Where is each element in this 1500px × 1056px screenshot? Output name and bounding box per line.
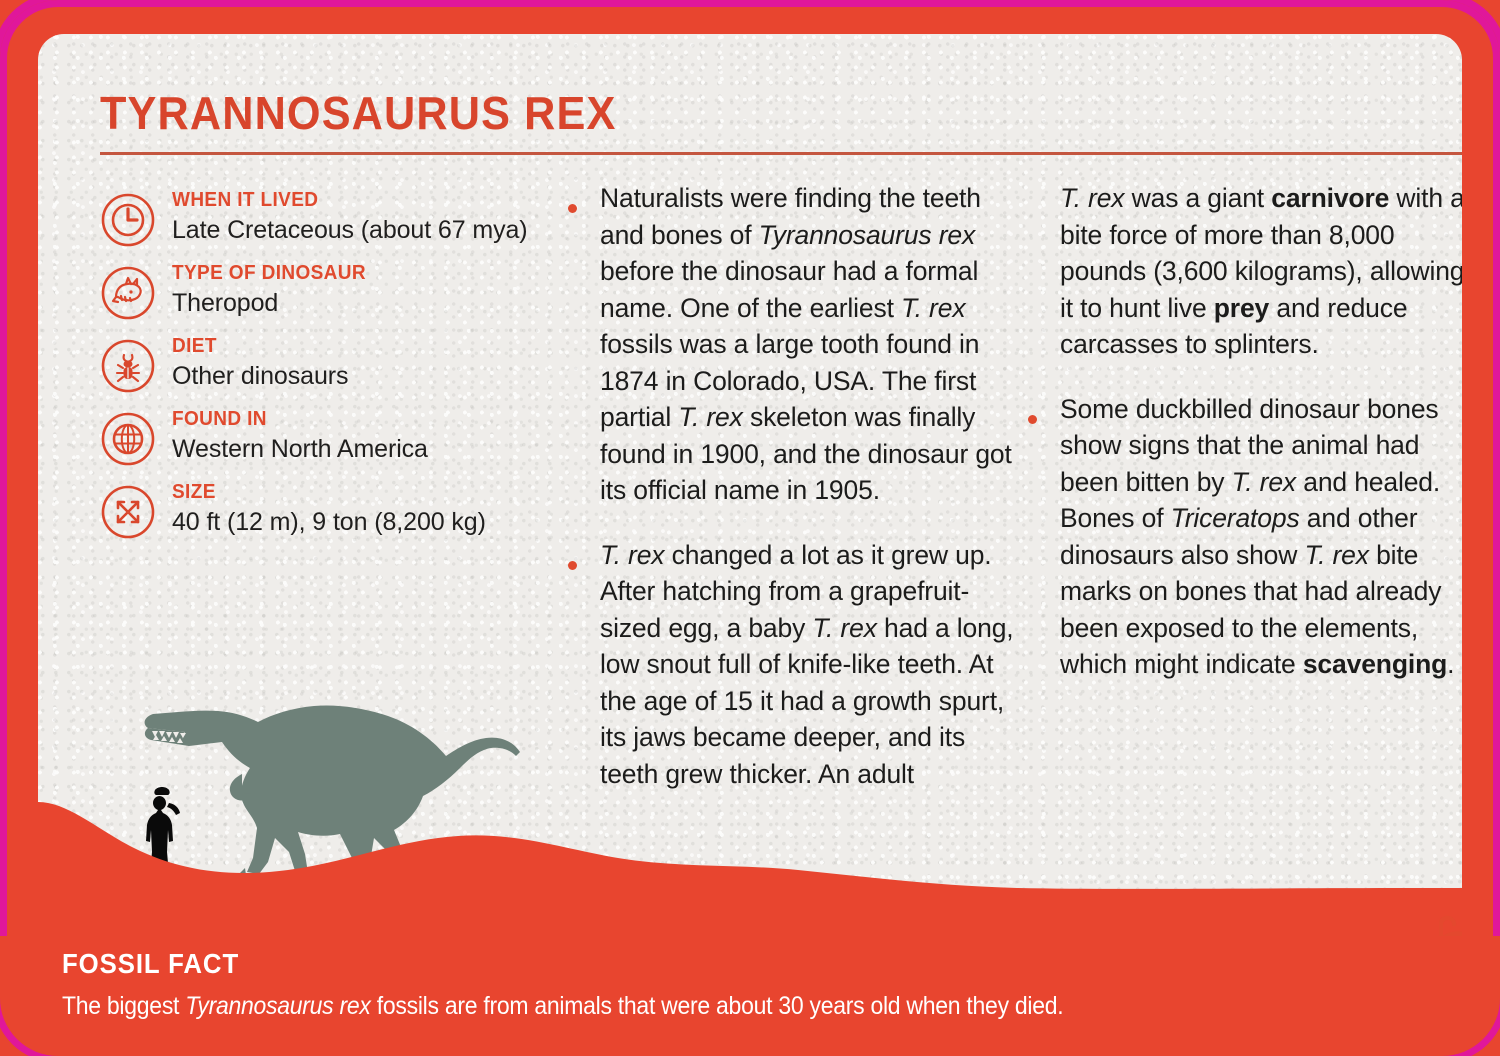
fact-list: WHEN IT LIVED Late Cretaceous (about 67 … [100, 186, 530, 551]
paragraph-continuation: T. rex was a giant carnivore with a bite… [1028, 180, 1462, 363]
paper-panel: TYRANNOSAURUS REX WHEN IT LIVED Late Cre… [38, 34, 1462, 944]
insect-icon [100, 338, 156, 394]
fact-row-when-it-lived: WHEN IT LIVED Late Cretaceous (about 67 … [100, 186, 530, 248]
fact-row-diet: DIET Other dinosaurs [100, 332, 530, 394]
fact-value: 40 ft (12 m), 9 ton (8,200 kg) [172, 506, 486, 539]
bullet-text: Naturalists were finding the teeth and b… [600, 180, 1020, 509]
bullet-dot [568, 180, 600, 509]
fact-label: TYPE OF DINOSAUR [172, 261, 366, 286]
fact-label: DIET [172, 334, 340, 359]
fact-row-found-in: FOUND IN Western North America [100, 405, 530, 467]
bullet-dot [568, 537, 600, 793]
right-text-column: T. rex was a giant carnivore with a bite… [1028, 180, 1462, 711]
list-item: Naturalists were finding the teeth and b… [568, 180, 1020, 509]
fact-row-type-of-dinosaur: TYPE OF DINOSAUR Theropod [100, 259, 530, 321]
fact-label: SIZE [172, 480, 470, 505]
fact-value: Late Cretaceous (about 67 mya) [172, 214, 528, 247]
fossil-fact-heading: FOSSIL FACT [62, 948, 239, 980]
fact-label: FOUND IN [172, 407, 415, 432]
fact-value: Other dinosaurs [172, 360, 348, 393]
middle-text-column: Naturalists were finding the teeth and b… [568, 180, 1020, 820]
fact-value: Western North America [172, 433, 428, 466]
fact-value: Theropod [172, 287, 376, 320]
globe-icon [100, 411, 156, 467]
tyrannosaurus-silhouette [145, 705, 520, 882]
bullet-dot [1028, 391, 1060, 683]
expand-icon [100, 484, 156, 540]
fossil-fact-text: The biggest Tyrannosaurus rex fossils ar… [62, 992, 1295, 1021]
bullet-text: Some duckbilled dinosaur bones show sign… [1060, 391, 1462, 683]
fact-label: WHEN IT LIVED [172, 188, 510, 213]
page-title: TYRANNOSAURUS REX [100, 86, 616, 140]
list-item: Some duckbilled dinosaur bones show sign… [1028, 391, 1462, 683]
list-item: T. rex changed a lot as it grew up. Afte… [568, 537, 1020, 793]
fossil-fact-footer: FOSSIL FACT The biggest Tyrannosaurus re… [0, 936, 1500, 1056]
fact-row-size: SIZE 40 ft (12 m), 9 ton (8,200 kg) [100, 478, 530, 540]
bullet-text: T. rex changed a lot as it grew up. Afte… [600, 537, 1020, 793]
title-divider [100, 152, 1462, 155]
clock-icon [100, 192, 156, 248]
scale-illustration [126, 662, 586, 902]
fact-card: TYRANNOSAURUS REX WHEN IT LIVED Late Cre… [0, 0, 1500, 1056]
human-scale-silhouette [144, 787, 180, 894]
bullet-text: T. rex was a giant carnivore with a bite… [1060, 180, 1462, 363]
dino-head-icon [100, 265, 156, 321]
